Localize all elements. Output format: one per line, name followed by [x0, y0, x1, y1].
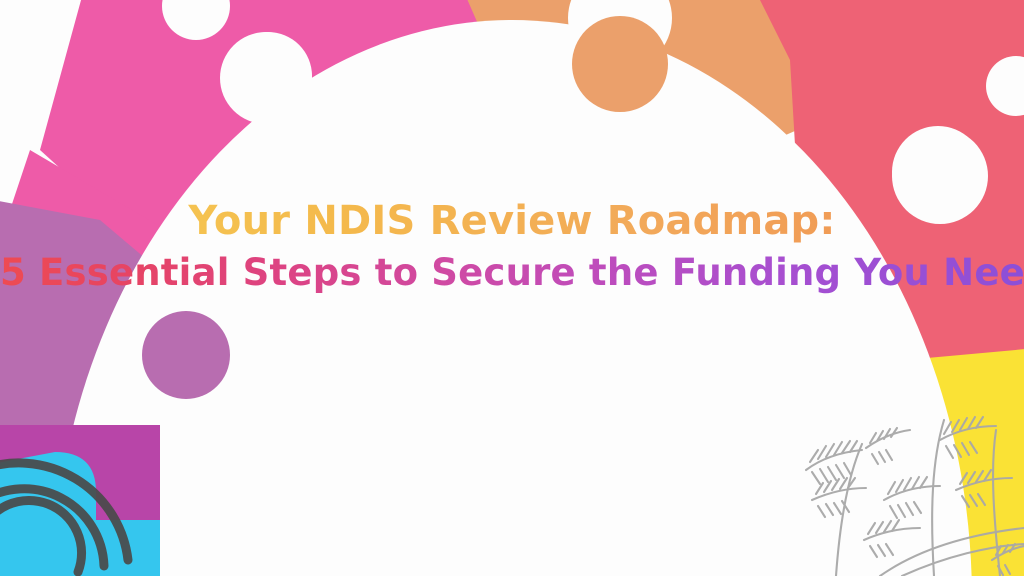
purple-knob — [142, 311, 230, 399]
title-slide: Your NDIS Review Roadmap: 5 Essential St… — [0, 0, 1024, 576]
pink-notch-side — [220, 32, 312, 124]
orange-knob — [572, 16, 668, 112]
decorative-background — [0, 0, 1024, 576]
coral-notch — [892, 128, 988, 224]
